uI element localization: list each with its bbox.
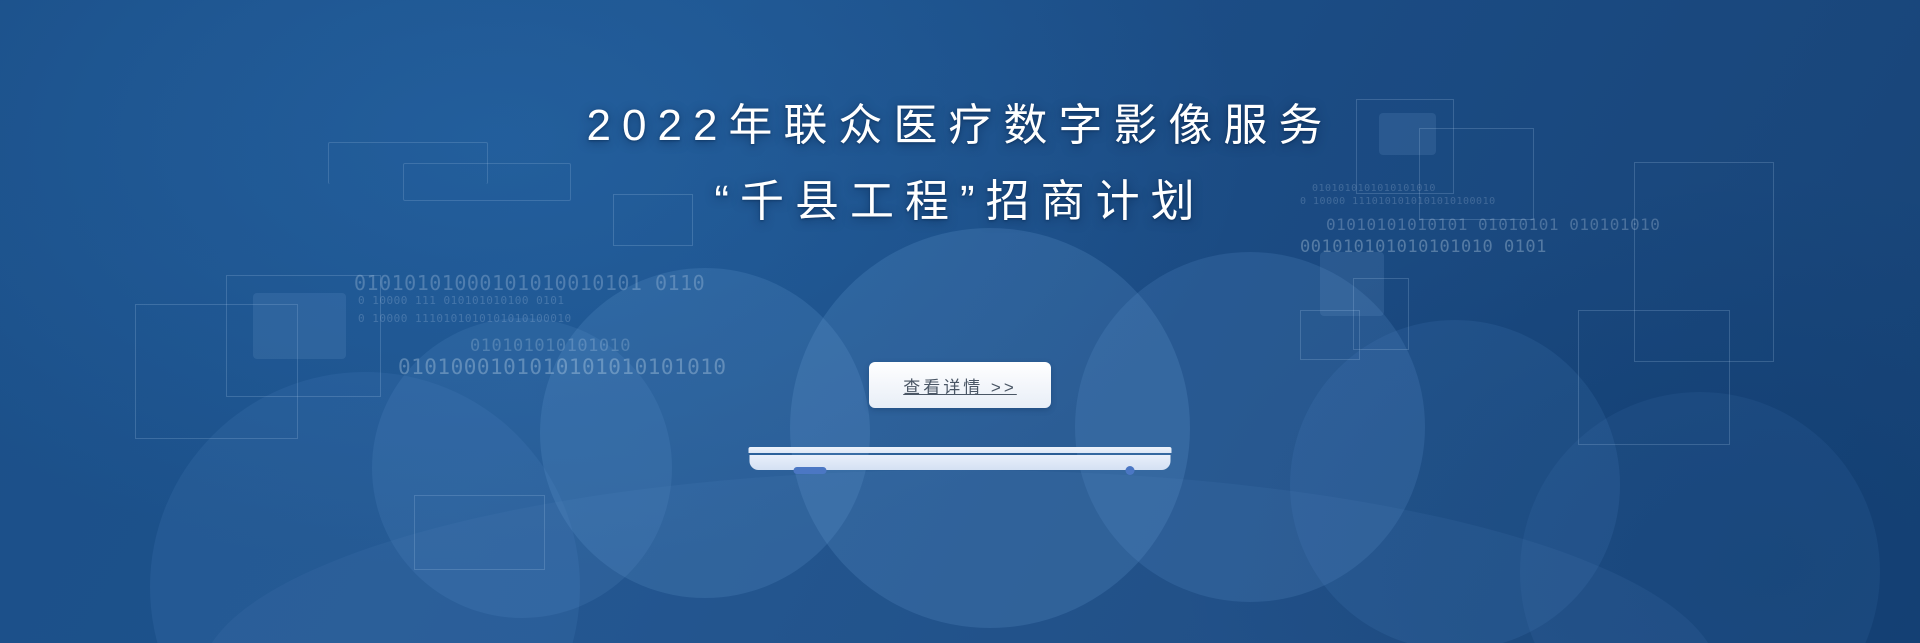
- decor-square-left-filled: [253, 293, 346, 359]
- decor-square-bottom-left: [414, 495, 545, 570]
- headline-line-1: 2022年联众医疗数字影像服务: [0, 88, 1920, 164]
- laptop-illustration: [749, 447, 1172, 475]
- decor-square-right-bottom: [1300, 310, 1360, 360]
- binary-decor-1: 0 10000 111 010101010100 0101: [358, 294, 565, 307]
- view-details-button[interactable]: 查看详情 >>: [869, 362, 1051, 408]
- headline-block: 2022年联众医疗数字影像服务 “千县工程”招商计划: [0, 88, 1920, 240]
- binary-decor-6: 001010101010101010 0101: [1300, 237, 1547, 257]
- headline-line-2: “千县工程”招商计划: [0, 164, 1920, 240]
- laptop-indicator-dot-icon: [1126, 466, 1135, 475]
- laptop-lid-edge: [749, 447, 1172, 453]
- laptop-touchpad-icon: [794, 467, 827, 474]
- binary-decor-0: 01010101000101010010101 0110: [354, 271, 705, 295]
- binary-decor-3: 010101010101010: [470, 336, 631, 356]
- binary-decor-2: 0 10000 1110101010101010100010: [358, 312, 572, 325]
- cta-container: 查看详情 >>: [0, 362, 1920, 408]
- decor-square-right-lower: [1353, 278, 1409, 350]
- laptop-deck: [750, 455, 1171, 470]
- promo-banner: 01010101000101010010101 0110 0 10000 111…: [0, 0, 1920, 643]
